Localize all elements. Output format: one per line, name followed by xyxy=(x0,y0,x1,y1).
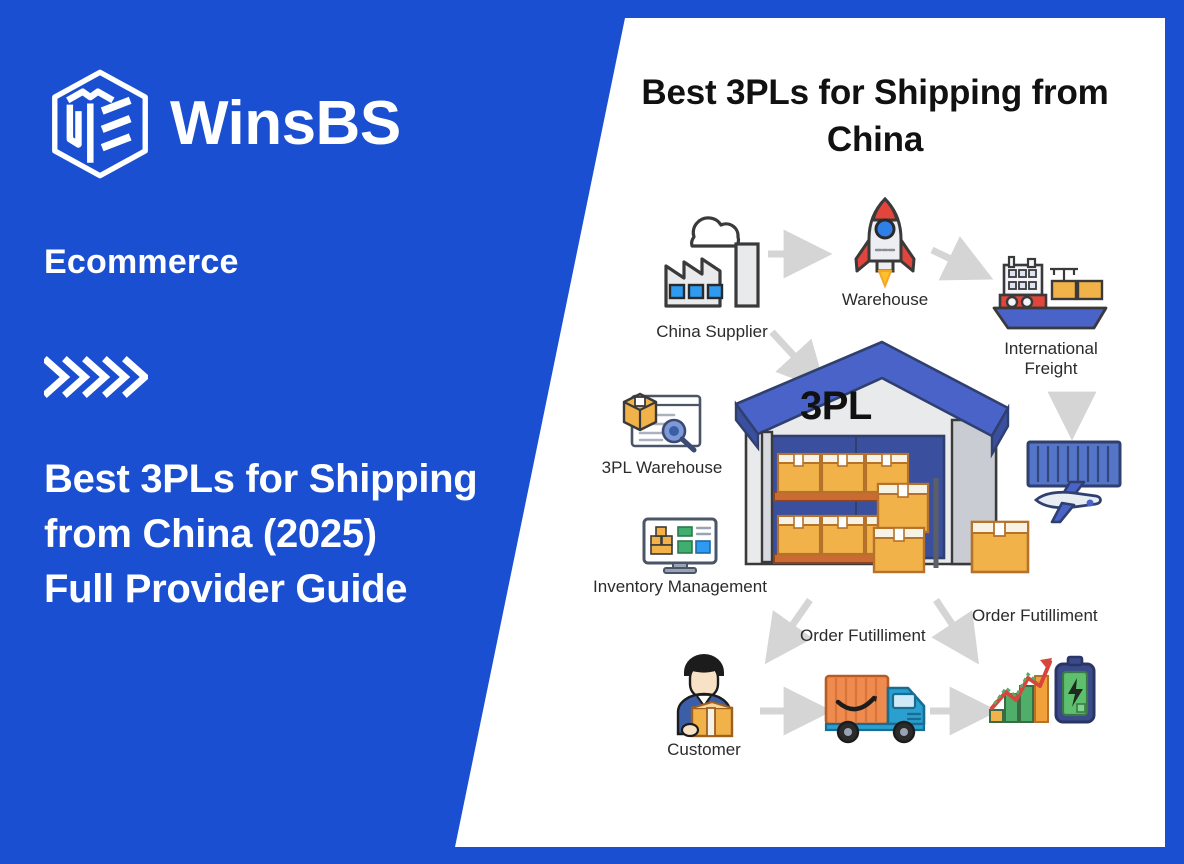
node-air-freight[interactable] xyxy=(1022,438,1126,524)
delivery-truck-icon xyxy=(824,668,930,746)
container-airplane-icon xyxy=(1022,438,1126,524)
node-customer[interactable]: Customer xyxy=(664,650,744,738)
node-growth-battery[interactable] xyxy=(988,652,1098,732)
growth-chart-battery-icon xyxy=(988,652,1098,732)
supply-chain-diagram: China Supplier xyxy=(0,0,1184,864)
flow-label-text-left: Order Futilliment xyxy=(800,626,926,646)
node-international-freight[interactable]: International Freight xyxy=(990,255,1112,337)
package-document-search-icon xyxy=(618,384,706,456)
warehouse-building-icon xyxy=(706,336,1036,594)
rocket-icon xyxy=(846,196,924,292)
infographic-canvas: WinsBS Ecommerce Best 3PLs for Shipping … xyxy=(0,0,1184,864)
node-china-supplier[interactable]: China Supplier xyxy=(648,204,776,316)
node-label-customer: Customer xyxy=(667,740,741,760)
customer-with-box-icon xyxy=(664,650,744,738)
cargo-ship-icon xyxy=(990,255,1112,337)
node-label-3pl-warehouse: 3PL Warehouse xyxy=(602,458,723,478)
node-label-warehouse: Warehouse xyxy=(842,290,928,310)
factory-icon xyxy=(648,204,776,316)
center-label-3pl: 3PL xyxy=(800,384,872,429)
node-delivery-truck[interactable] xyxy=(824,668,930,746)
node-3pl-building[interactable] xyxy=(706,336,1036,594)
node-3pl-warehouse[interactable]: 3PL Warehouse xyxy=(618,384,706,456)
flow-label-text-right: Order Futilliment xyxy=(972,606,1098,626)
right-panel-content: Best 3PLs for Shipping from China xyxy=(0,0,1184,864)
node-warehouse[interactable]: Warehouse xyxy=(846,196,924,292)
